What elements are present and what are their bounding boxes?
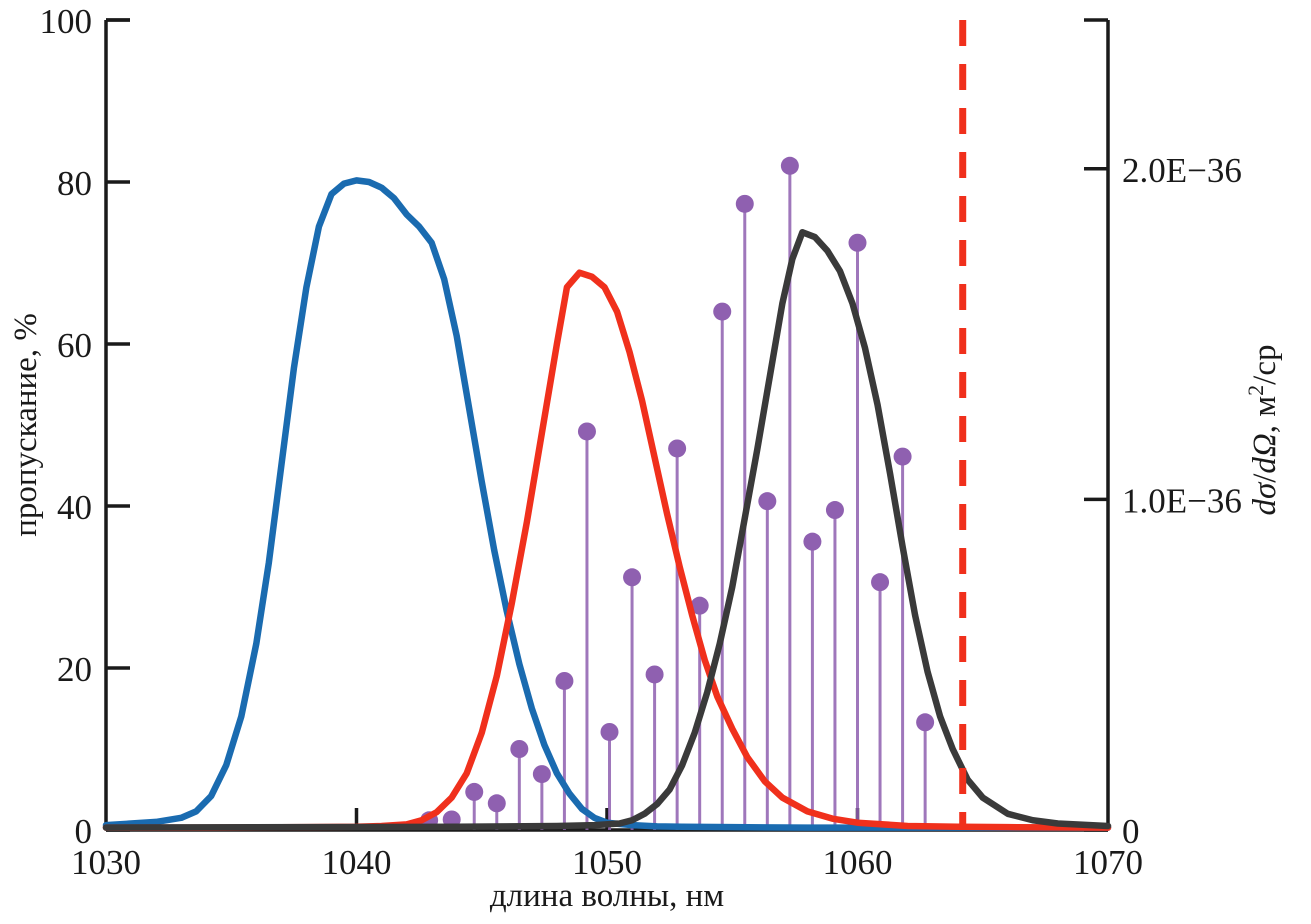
stem-marker xyxy=(601,723,619,741)
y-left-tick-label: 20 xyxy=(57,650,92,689)
stem-marker xyxy=(871,573,889,591)
svg-text:dσ/dΩ, м2/ср: dσ/dΩ, м2/ср xyxy=(1243,344,1284,515)
stem-marker xyxy=(849,234,867,252)
stem-marker xyxy=(758,492,776,510)
stem-marker xyxy=(713,303,731,321)
x-tick-label: 1070 xyxy=(1073,843,1143,882)
spectral-transmission-chart: 020406080100 01.0E−362.0E−36 10301040105… xyxy=(0,0,1311,924)
stem-marker xyxy=(781,157,799,175)
y-right-tick-label: 2.0E−36 xyxy=(1122,151,1242,190)
stem-marker xyxy=(668,439,686,457)
x-tick-label: 1060 xyxy=(823,843,893,882)
stem-marker xyxy=(803,533,821,551)
x-axis-title: длина волны, нм xyxy=(490,878,724,914)
x-tick-label: 1040 xyxy=(322,843,392,882)
y-left-tick-label: 40 xyxy=(57,488,92,527)
stem-marker xyxy=(465,783,483,801)
stem-marker xyxy=(736,195,754,213)
stem-marker xyxy=(578,422,596,440)
y-left-tick-label: 100 xyxy=(40,2,93,41)
stem-marker xyxy=(894,448,912,466)
x-tick-label: 1050 xyxy=(572,843,642,882)
stem-marker xyxy=(510,740,528,758)
y-right-axis-title: dσ/dΩ, м2/ср xyxy=(1243,344,1284,515)
stem-marker xyxy=(826,501,844,519)
stem-marker xyxy=(623,568,641,586)
y-left-tick-label: 80 xyxy=(57,164,92,203)
y-right-tick-label: 1.0E−36 xyxy=(1122,481,1242,520)
stem-marker xyxy=(555,672,573,690)
y-left-tick-label: 60 xyxy=(57,326,92,365)
stem-marker xyxy=(916,713,934,731)
stem-marker xyxy=(646,665,664,683)
y-left-axis-title: пропускание, % xyxy=(8,313,44,537)
x-tick-label: 1030 xyxy=(71,843,141,882)
stem-marker xyxy=(533,765,551,783)
figure-container: 020406080100 01.0E−362.0E−36 10301040105… xyxy=(0,0,1311,924)
stem-marker xyxy=(488,794,506,812)
